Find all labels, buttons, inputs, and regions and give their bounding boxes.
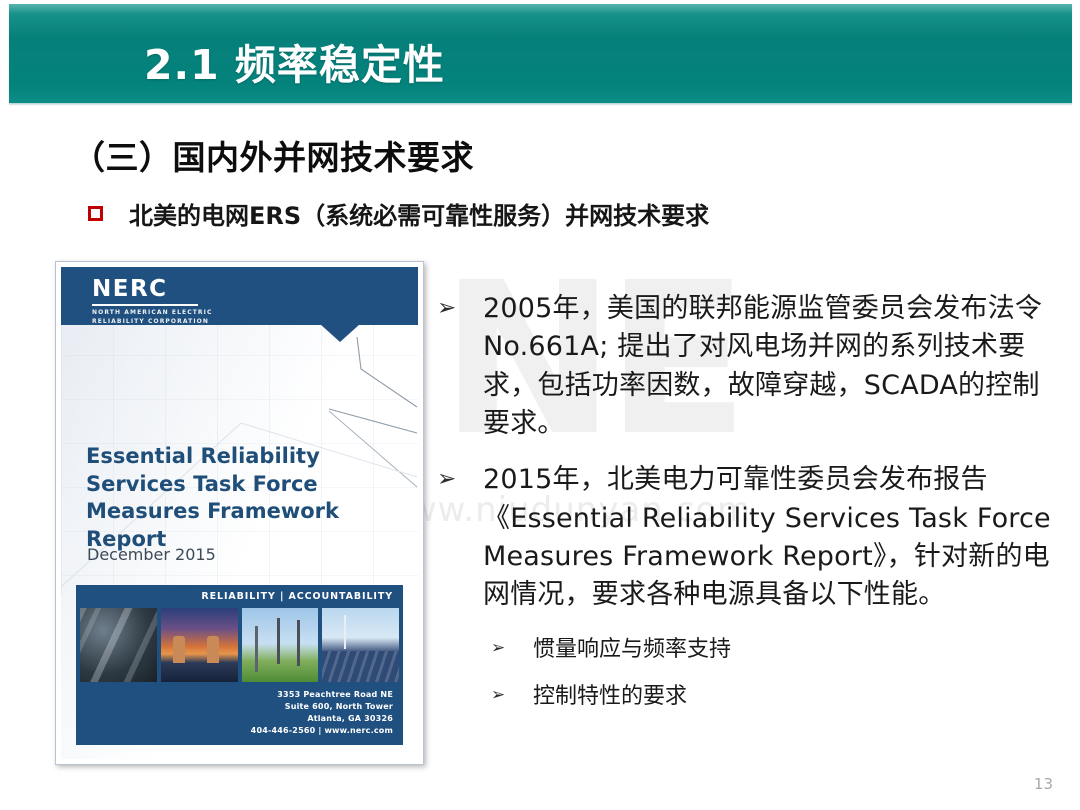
nerc-logo-rule: [92, 304, 198, 306]
nerc-logo: NERC NORTH AMERICAN ELECTRIC RELIABILITY…: [92, 278, 212, 326]
transmission-lines-photo: [242, 608, 319, 682]
content-column: ➢ 2005年，美国的联邦能源监管委员会发布法令No.661A; 提出了对风电场…: [437, 290, 1062, 727]
bullet-text-1: 2005年，美国的联邦能源监管委员会发布法令No.661A; 提出了对风电场并网…: [483, 290, 1062, 443]
cover-top-banner: NERC NORTH AMERICAN ELECTRIC RELIABILITY…: [61, 267, 418, 325]
arrow-bullet-icon: ➢: [437, 461, 483, 496]
subbullet-text-1: 惯量响应与频率支持: [533, 633, 1062, 666]
nerc-logo-wordmark: NERC: [92, 278, 212, 301]
wind-solar-photo: [322, 608, 399, 682]
slide-header-band: 2.1 频率稳定性: [9, 4, 1072, 103]
nerc-logo-subtitle-line2: RELIABILITY CORPORATION: [92, 318, 212, 327]
section-heading: （三）国内外并网技术要求: [72, 131, 474, 179]
nerc-logo-subtitle-line1: NORTH AMERICAN ELECTRIC: [92, 309, 212, 318]
cover-inner: NERC NORTH AMERICAN ELECTRIC RELIABILITY…: [61, 267, 418, 759]
cover-date: December 2015: [87, 545, 216, 564]
page-title: 2.1 频率稳定性: [144, 31, 445, 91]
red-square-bullet-icon: [88, 206, 103, 221]
cover-address-line-2: Suite 600, North Tower: [76, 701, 393, 713]
cover-address-line-3: Atlanta, GA 30326: [76, 713, 393, 725]
control-room-photo: [80, 608, 157, 682]
slide-canvas: 2.1 频率稳定性 NE www.niudunyan.com （三）国内外并网技…: [0, 0, 1080, 810]
bullet-text-2: 2015年，北美电力可靠性委员会发布报告《Essential Reliabili…: [483, 461, 1062, 614]
cover-title: Essential Reliability Services Task Forc…: [86, 443, 406, 554]
cover-address-line-1: 3353 Peachtree Road NE: [76, 689, 393, 701]
cover-photo-strip: [76, 608, 403, 682]
sub-arrow-bullet-icon: ➢: [491, 633, 533, 662]
topic-bullet-label: 北美的电网ERS（系统必需可靠性服务）并网技术要求: [129, 196, 709, 231]
subbullet-text-2: 控制特性的要求: [533, 680, 1062, 713]
cover-address-line-4: 404-446-2560 | www.nerc.com: [76, 725, 393, 737]
subbullet-item-1: ➢ 惯量响应与频率支持: [491, 633, 1062, 666]
arrow-bullet-icon: ➢: [437, 290, 483, 325]
cover-tagline: RELIABILITY | ACCOUNTABILITY: [76, 585, 403, 608]
bullet-item-1: ➢ 2005年，美国的联邦能源监管委员会发布法令No.661A; 提出了对风电场…: [437, 290, 1062, 443]
bullet-item-2: ➢ 2015年，北美电力可靠性委员会发布报告《Essential Reliabi…: [437, 461, 1062, 614]
cover-footer-band: RELIABILITY | ACCOUNTABILITY 3353 Peacht…: [76, 585, 403, 745]
subbullet-list: ➢ 惯量响应与频率支持 ➢ 控制特性的要求: [491, 633, 1062, 713]
cooling-towers-photo: [161, 608, 238, 682]
nerc-report-cover-image: NERC NORTH AMERICAN ELECTRIC RELIABILITY…: [55, 261, 424, 765]
page-number: 13: [1034, 775, 1053, 793]
subbullet-item-2: ➢ 控制特性的要求: [491, 680, 1062, 713]
topic-bullet-row: 北美的电网ERS（系统必需可靠性服务）并网技术要求: [88, 196, 709, 231]
cover-address-block: 3353 Peachtree Road NE Suite 600, North …: [76, 682, 403, 745]
sub-arrow-bullet-icon: ➢: [491, 680, 533, 709]
